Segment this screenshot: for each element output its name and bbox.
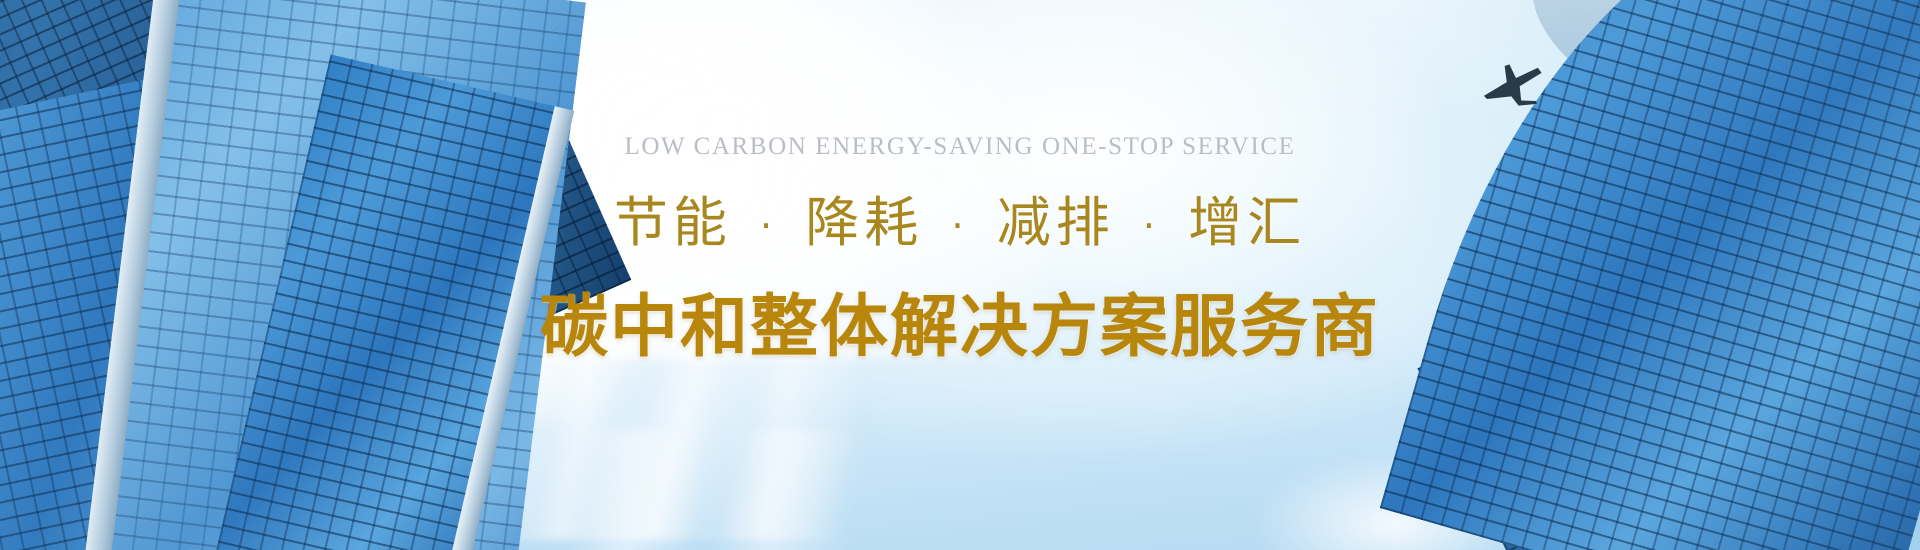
airplane-icon — [1478, 55, 1550, 115]
hero-banner: LOW CARBON ENERGY-SAVING ONE-STOP SERVIC… — [0, 0, 1920, 550]
